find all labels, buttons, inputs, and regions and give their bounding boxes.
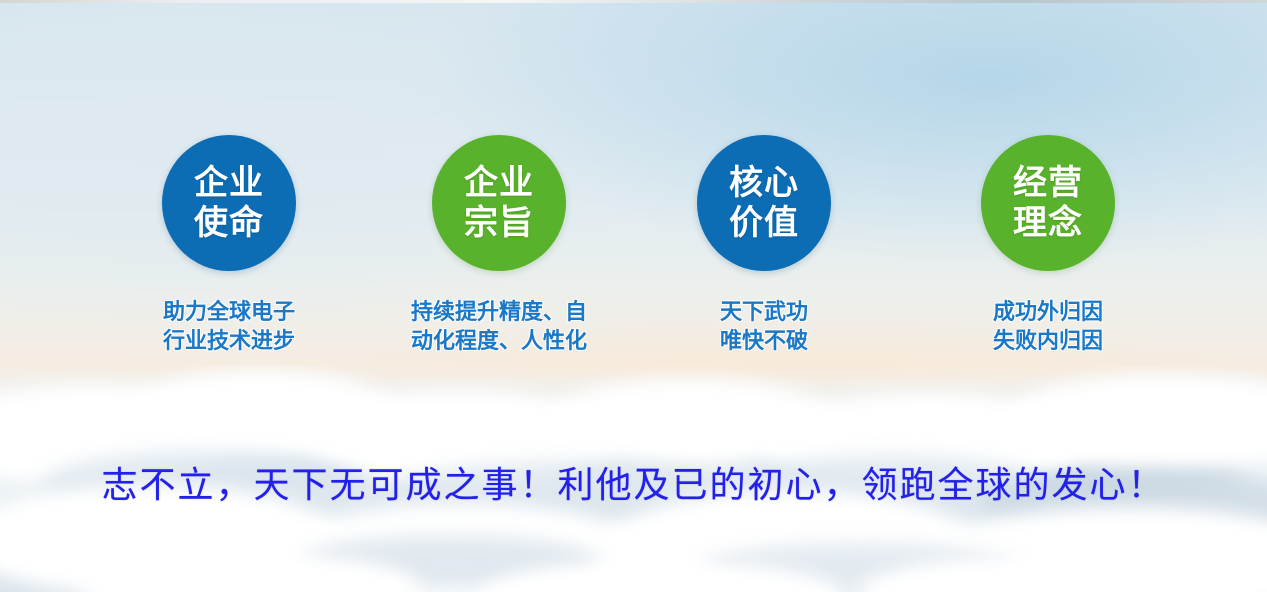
slogan-text: 志不立，天下无可成之事！利他及已的初心，领跑全球的发心！	[0, 466, 1267, 506]
circle-management-philosophy[interactable]: 经营 理念	[981, 135, 1115, 271]
circle-title-line1: 核心	[729, 163, 799, 203]
caption-line1: 成功外归因	[943, 297, 1153, 326]
caption-line2: 行业技术进步	[124, 326, 334, 355]
circle-mission[interactable]: 企业 使命	[162, 135, 296, 271]
caption-line2: 唯快不破	[659, 326, 869, 355]
caption-purpose: 持续提升精度、自 动化程度、人性化	[394, 297, 604, 355]
circle-title-line1: 经营	[1013, 163, 1083, 203]
caption-mission: 助力全球电子 行业技术进步	[124, 297, 334, 355]
slide-canvas: 企业 使命 助力全球电子 行业技术进步 企业 宗旨 持续提升精度、自 动化程度、…	[0, 0, 1267, 592]
value-item-mission[interactable]: 企业 使命 助力全球电子 行业技术进步	[124, 135, 334, 355]
value-item-management-philosophy[interactable]: 经营 理念 成功外归因 失败内归因	[943, 135, 1153, 355]
value-item-core-value[interactable]: 核心 价值 天下武功 唯快不破	[659, 135, 869, 355]
caption-management-philosophy: 成功外归因 失败内归因	[943, 297, 1153, 355]
caption-line1: 持续提升精度、自	[394, 297, 604, 326]
circle-title-line1: 企业	[464, 163, 534, 203]
caption-line1: 助力全球电子	[124, 297, 334, 326]
circle-title-line2: 理念	[1013, 203, 1083, 243]
circle-title-line2: 价值	[729, 203, 799, 243]
circle-core-value[interactable]: 核心 价值	[697, 135, 831, 271]
caption-line2: 失败内归因	[943, 326, 1153, 355]
value-item-purpose[interactable]: 企业 宗旨 持续提升精度、自 动化程度、人性化	[394, 135, 604, 355]
circle-title-line2: 使命	[194, 203, 264, 243]
caption-core-value: 天下武功 唯快不破	[659, 297, 869, 355]
caption-line1: 天下武功	[659, 297, 869, 326]
circle-purpose[interactable]: 企业 宗旨	[432, 135, 566, 271]
caption-line2: 动化程度、人性化	[394, 326, 604, 355]
circle-title-line2: 宗旨	[464, 203, 534, 243]
circle-title-line1: 企业	[194, 163, 264, 203]
